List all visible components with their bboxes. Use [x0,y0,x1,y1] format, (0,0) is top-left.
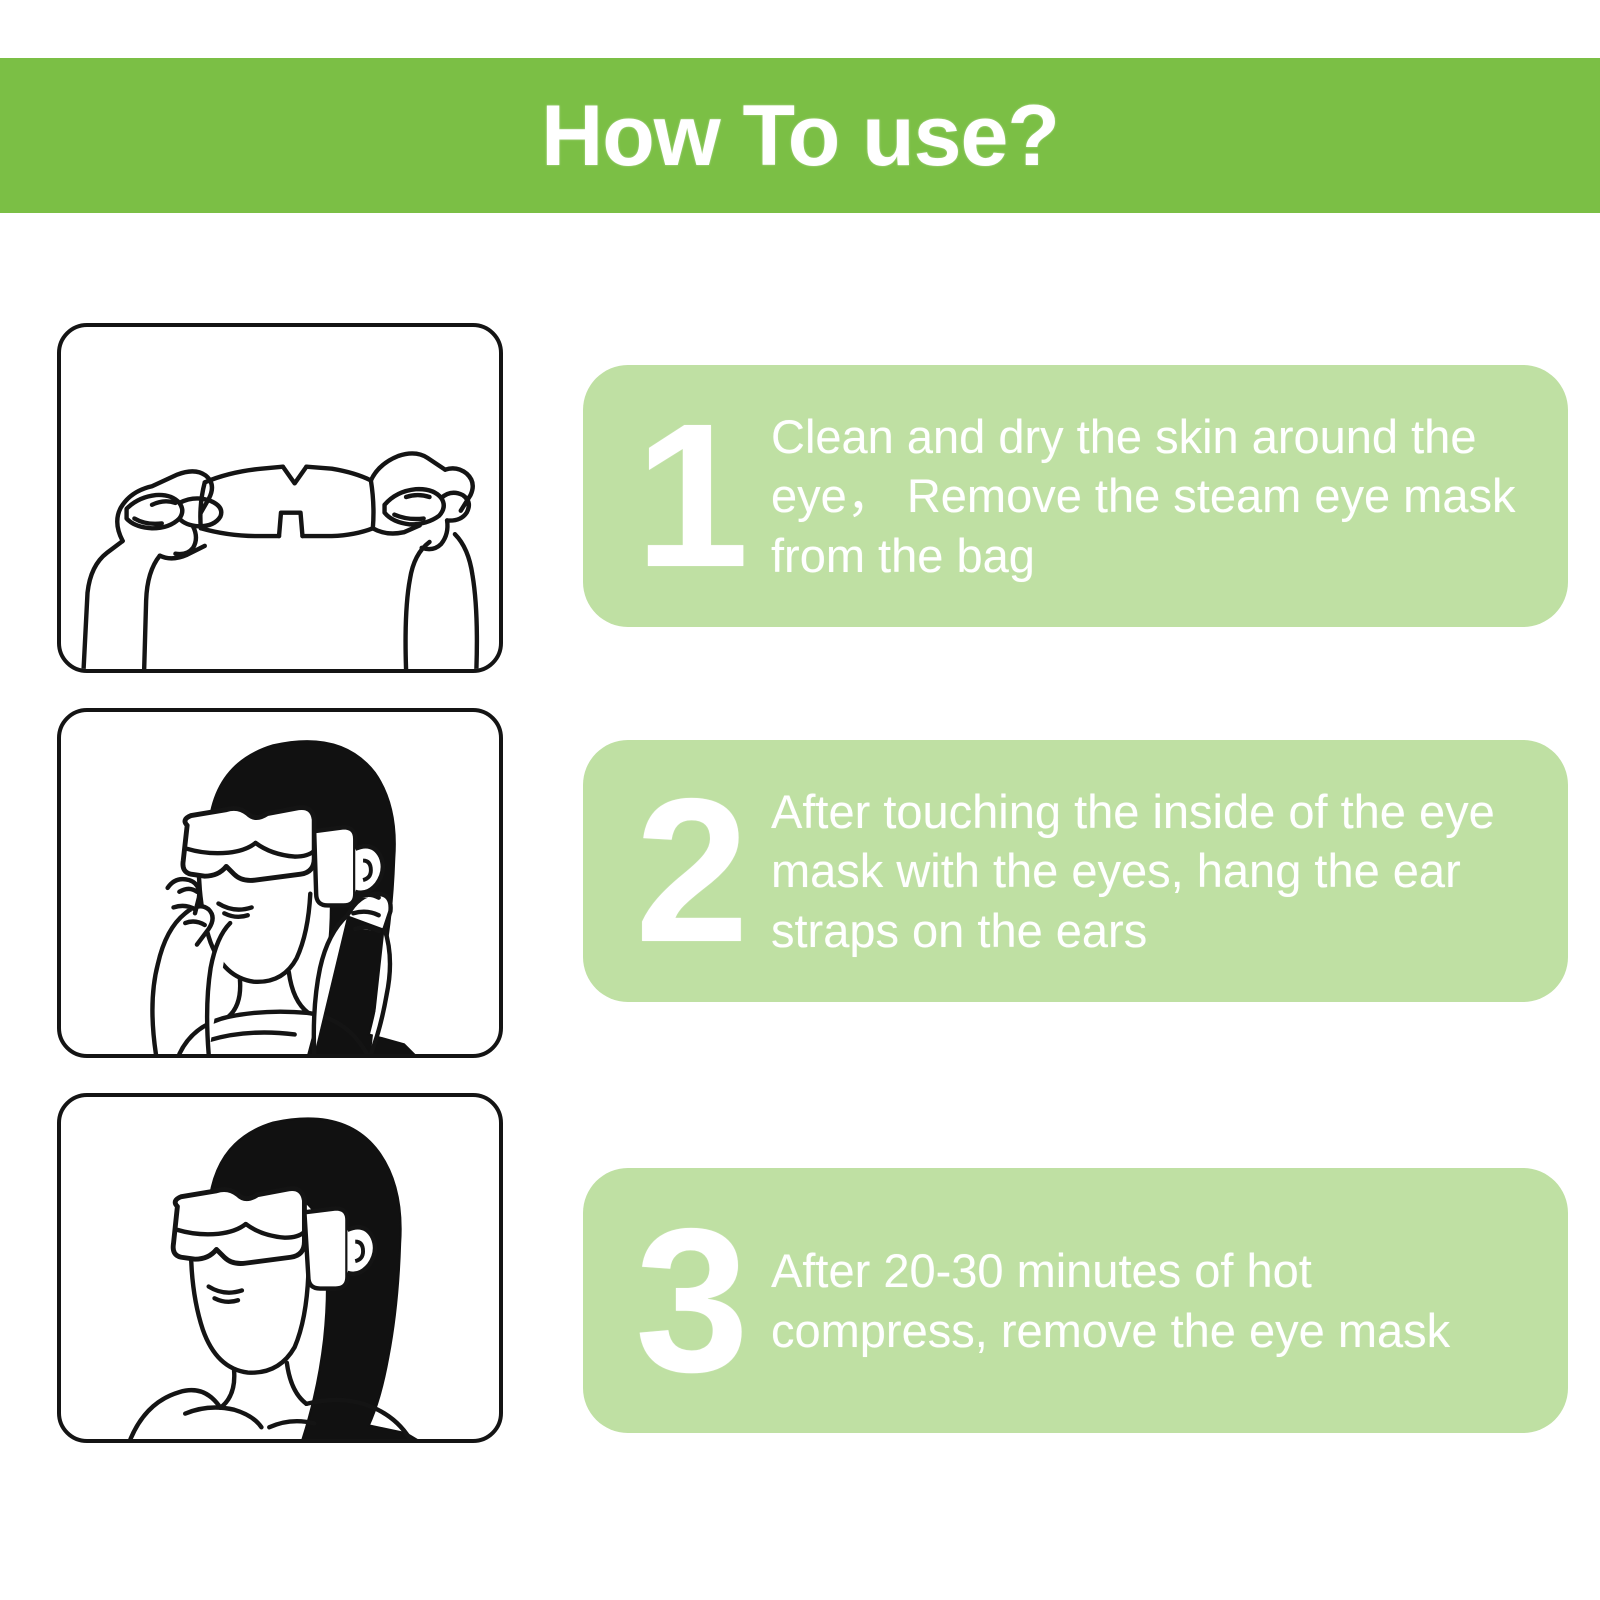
woman-wearing-mask-icon [61,1097,499,1439]
page-title: How To use? [541,93,1059,179]
step-description: After 20-30 minutes of hot compress, rem… [771,1241,1534,1359]
step-card: 1 Clean and dry the skin around the eye，… [583,365,1568,627]
illustration-hands-holding-steam-eye-mask [57,323,503,673]
step-card: 3 After 20-30 minutes of hot compress, r… [583,1168,1568,1433]
step-row: 3 After 20-30 minutes of hot compress, r… [0,1093,1600,1478]
step-card: 2 After touching the inside of the eye m… [583,740,1568,1002]
illustration-woman-wearing-eye-mask [57,1093,503,1443]
header-bar: How To use? [0,58,1600,213]
step-row: 1 Clean and dry the skin around the eye，… [0,323,1600,708]
steps-container: 1 Clean and dry the skin around the eye，… [0,213,1600,1600]
step-description: After touching the inside of the eye mas… [771,782,1534,960]
step-number: 3 [627,1221,757,1381]
woman-hanging-ear-straps-icon [61,712,499,1054]
step-description: Clean and dry the skin around the eye， R… [771,407,1534,585]
illustration-woman-placing-eye-mask [57,708,503,1058]
step-number: 2 [627,791,757,951]
step-number: 1 [627,416,757,576]
step-row: 2 After touching the inside of the eye m… [0,708,1600,1093]
hands-holding-mask-icon [61,327,499,669]
